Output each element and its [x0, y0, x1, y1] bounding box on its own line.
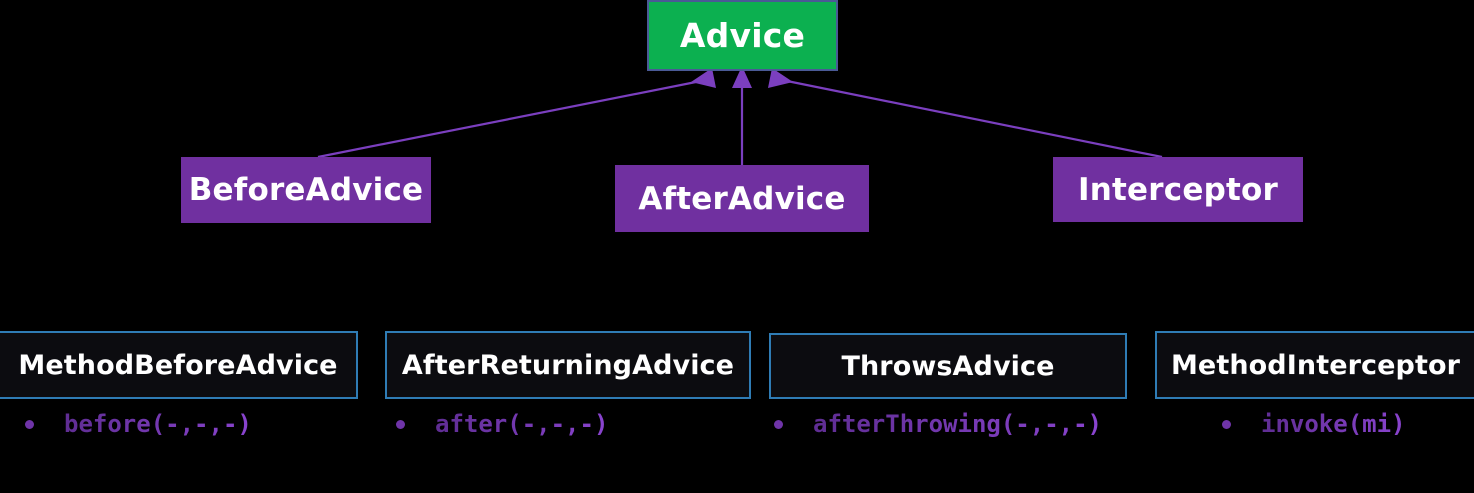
- node-throws-advice-label: ThrowsAdvice: [841, 351, 1054, 382]
- bullet-icon: [396, 420, 405, 429]
- method-invoke: invoke(mi): [1222, 410, 1406, 438]
- bullet-icon: [774, 420, 783, 429]
- node-before-advice-label: BeforeAdvice: [189, 172, 424, 208]
- bullet-icon: [25, 420, 34, 429]
- method-before-text: before(-,-,-): [64, 410, 252, 438]
- arrowhead-interceptor: [768, 68, 793, 88]
- method-after: after(-,-,-): [396, 410, 608, 438]
- node-method-interceptor-label: MethodInterceptor: [1171, 350, 1460, 381]
- arrowhead-before-advice: [691, 68, 716, 88]
- method-invoke-text: invoke(mi): [1261, 410, 1406, 438]
- node-after-returning-advice: AfterReturningAdvice: [385, 331, 751, 399]
- connector-interceptor: [782, 80, 1162, 157]
- method-after-throwing-text: afterThrowing(-,-,-): [813, 410, 1102, 438]
- node-throws-advice: ThrowsAdvice: [769, 333, 1127, 399]
- node-after-advice: AfterAdvice: [615, 165, 869, 232]
- bullet-icon: [1222, 420, 1231, 429]
- method-before: before(-,-,-): [25, 410, 252, 438]
- method-after-text: after(-,-,-): [435, 410, 608, 438]
- method-after-throwing: afterThrowing(-,-,-): [774, 410, 1102, 438]
- diagram-canvas: Advice BeforeAdvice AfterAdvice Intercep…: [0, 0, 1474, 493]
- node-before-advice: BeforeAdvice: [181, 157, 431, 223]
- connector-before-advice: [318, 80, 706, 157]
- node-interceptor: Interceptor: [1053, 157, 1303, 222]
- node-advice-label: Advice: [680, 16, 805, 55]
- node-advice: Advice: [647, 0, 838, 71]
- node-method-interceptor: MethodInterceptor: [1155, 331, 1474, 399]
- node-method-before-advice: MethodBeforeAdvice: [0, 331, 358, 399]
- node-interceptor-label: Interceptor: [1078, 172, 1278, 208]
- node-after-returning-advice-label: AfterReturningAdvice: [402, 350, 734, 381]
- node-after-advice-label: AfterAdvice: [638, 181, 845, 217]
- node-method-before-advice-label: MethodBeforeAdvice: [18, 350, 337, 381]
